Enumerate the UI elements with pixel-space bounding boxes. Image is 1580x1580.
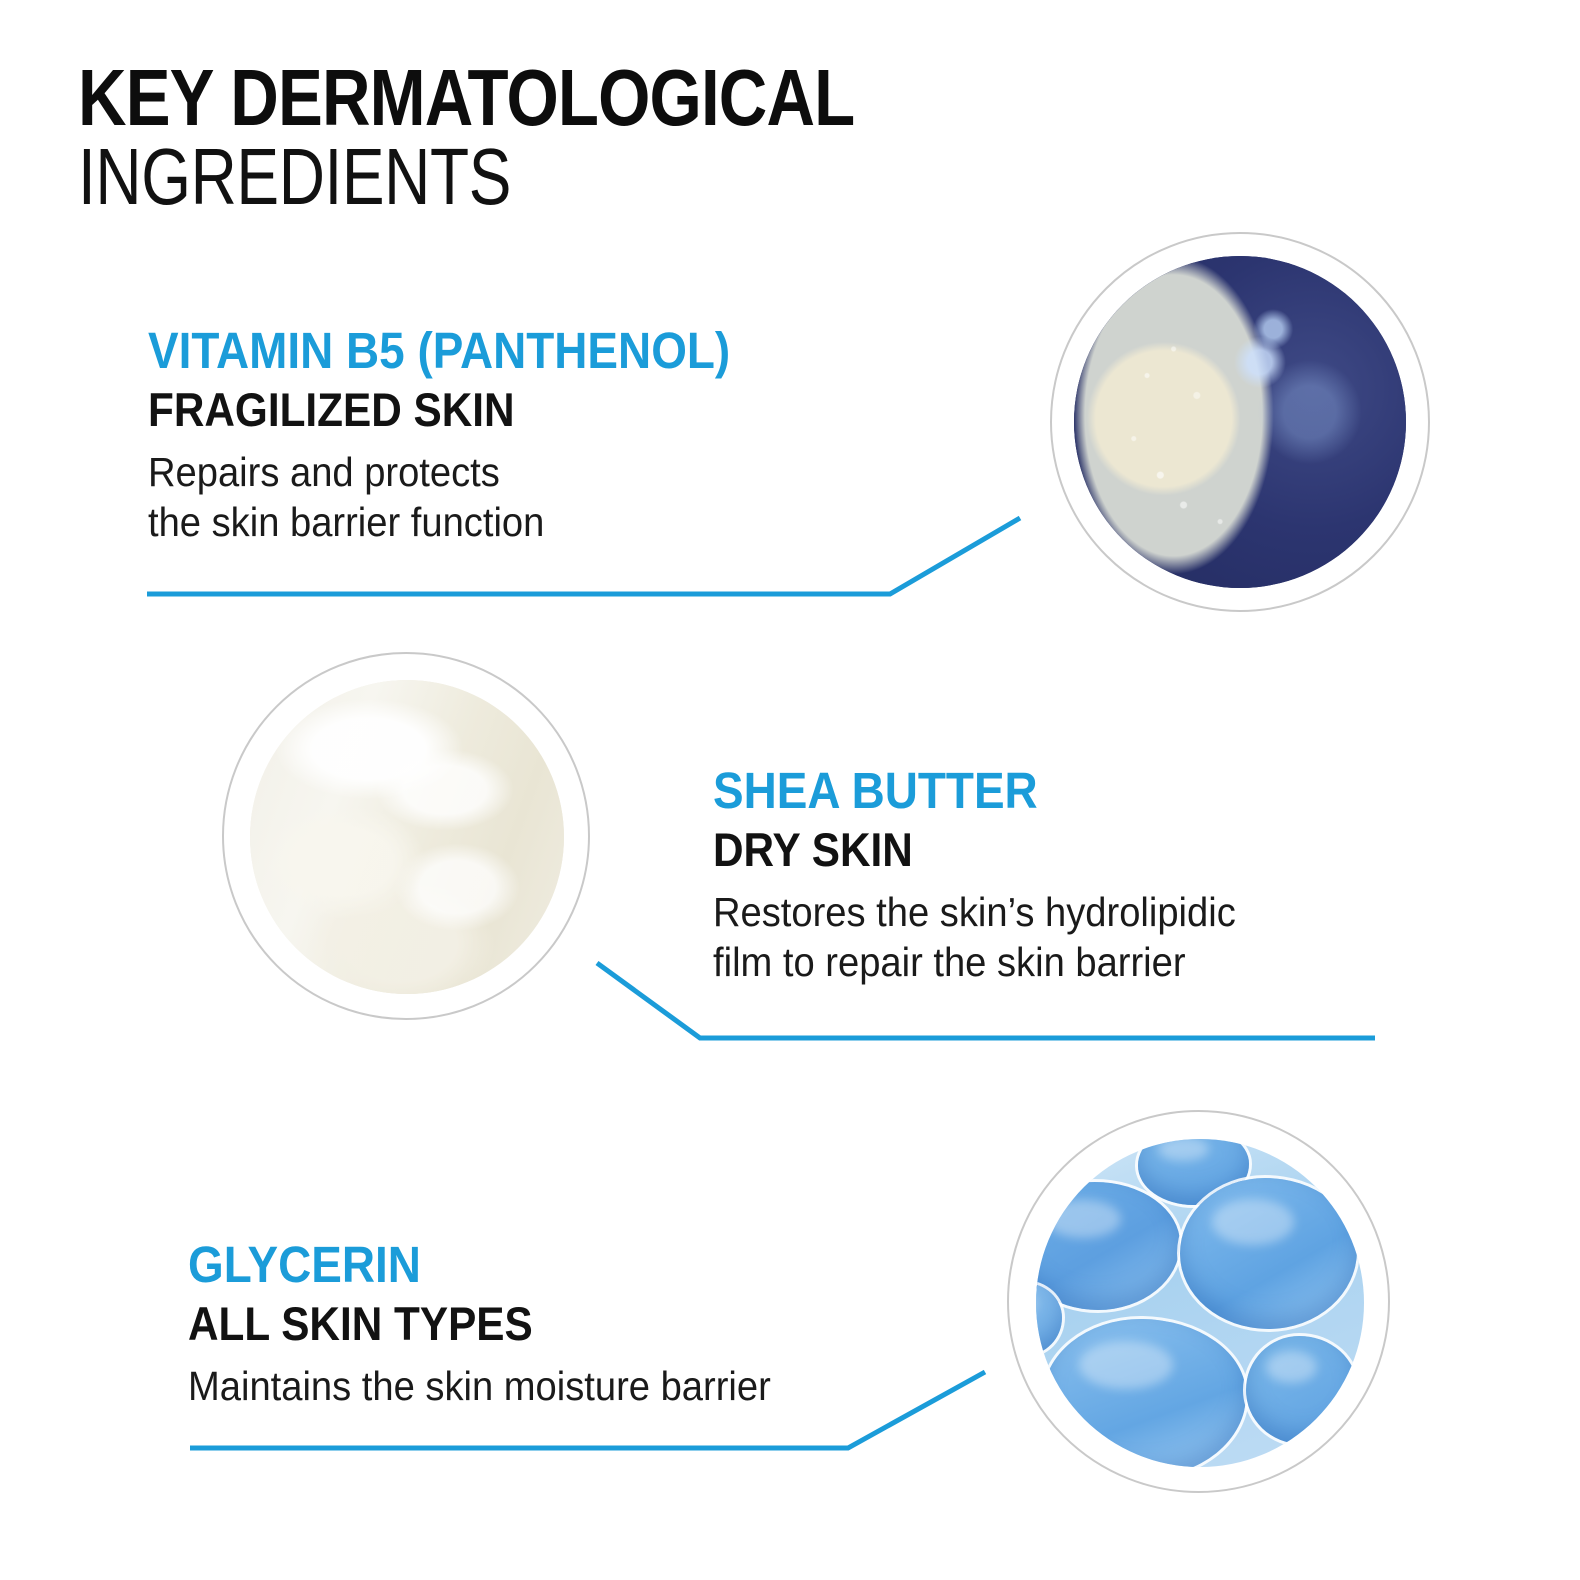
shea-butter-image-ring xyxy=(222,652,590,1020)
ingredient-block-vitamin-b5: VITAMIN B5 (PANTHENOL) FRAGILIZED SKIN R… xyxy=(148,322,1108,547)
shea-butter-image xyxy=(250,680,564,994)
bubble-cell xyxy=(1180,1178,1357,1329)
infographic-canvas: KEY DERMATOLOGICAL INGREDIENTS xyxy=(0,0,1580,1580)
page-title-line-2: INGREDIENTS xyxy=(78,136,958,218)
ingredient-name-vitamin-b5: VITAMIN B5 (PANTHENOL) xyxy=(148,322,1012,380)
ingredient-skin-type-shea-butter: DRY SKIN xyxy=(713,822,1343,878)
page-title-line-1: KEY DERMATOLOGICAL xyxy=(78,60,1002,136)
ingredient-skin-type-vitamin-b5: FRAGILIZED SKIN xyxy=(148,382,1012,438)
ingredient-skin-type-glycerin: ALL SKIN TYPES xyxy=(188,1296,998,1352)
ingredient-description-shea-butter: Restores the skin’s hydrolipidic film to… xyxy=(713,887,1364,987)
ingredient-block-glycerin: GLYCERIN ALL SKIN TYPES Maintains the sk… xyxy=(188,1236,1088,1411)
ingredient-description-glycerin: Maintains the skin moisture barrier xyxy=(188,1361,1025,1411)
ingredient-name-shea-butter: SHEA BUTTER xyxy=(713,762,1343,820)
ingredient-block-shea-butter: SHEA BUTTER DRY SKIN Restores the skin’s… xyxy=(713,762,1413,987)
ingredient-description-vitamin-b5: Repairs and protects the skin barrier fu… xyxy=(148,447,1041,547)
vitamin-b5-sphere-art xyxy=(1074,256,1406,588)
shea-butter-art xyxy=(250,680,564,994)
vitamin-b5-sphere-image xyxy=(1074,256,1406,588)
ingredient-name-glycerin: GLYCERIN xyxy=(188,1236,998,1294)
bubble-cell xyxy=(1246,1336,1358,1444)
page-title: KEY DERMATOLOGICAL INGREDIENTS xyxy=(78,60,1178,218)
